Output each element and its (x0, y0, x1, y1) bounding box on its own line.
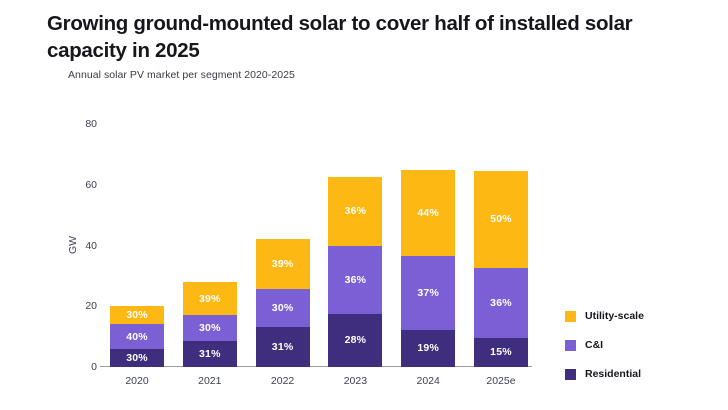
bar-group[interactable]: 39%30%31%2021 (183, 124, 237, 367)
y-axis-tick-label: 60 (85, 179, 97, 191)
x-axis-tick-label: 2021 (198, 375, 221, 387)
x-axis-tick-label: 2022 (271, 375, 294, 387)
segment-share-label: 39% (272, 258, 294, 270)
bar-segment-c-i[interactable]: 37% (401, 256, 455, 329)
segment-share-label: 31% (199, 348, 221, 360)
segment-share-label: 31% (272, 341, 294, 353)
segment-share-label: 36% (490, 297, 512, 309)
legend-swatch-icon (565, 340, 576, 351)
y-axis-tick-label: 40 (85, 240, 97, 252)
segment-share-label: 37% (417, 287, 439, 299)
bar-group[interactable]: 36%36%28%2023 (328, 124, 382, 367)
x-axis-tick-label: 2023 (344, 375, 367, 387)
stacked-bar[interactable]: 44%37%19% (401, 170, 455, 367)
stacked-bar[interactable]: 30%40%30% (110, 306, 164, 367)
segment-share-label: 40% (126, 331, 148, 343)
bar-segment-utility-scale[interactable]: 50% (474, 171, 528, 268)
bar-segment-utility-scale[interactable]: 30% (110, 306, 164, 324)
legend-item-ci[interactable]: C&I (565, 339, 644, 351)
y-axis-tick-label: 80 (85, 118, 97, 130)
legend-item-label: Residential (585, 368, 641, 380)
x-axis-tick-label: 2024 (417, 375, 440, 387)
stacked-bar[interactable]: 39%30%31% (183, 282, 237, 367)
stacked-bar[interactable]: 50%36%15% (474, 171, 528, 367)
bar-segment-utility-scale[interactable]: 39% (183, 282, 237, 315)
bar-segment-utility-scale[interactable]: 39% (256, 239, 310, 289)
bar-group[interactable]: 39%30%31%2022 (256, 124, 310, 367)
bar-segment-residential[interactable]: 15% (474, 338, 528, 367)
stacked-bar[interactable]: 36%36%28% (328, 177, 382, 367)
legend-swatch-icon (565, 369, 576, 380)
legend-item-label: Utility-scale (585, 310, 644, 322)
segment-share-label: 50% (490, 213, 512, 225)
segment-share-label: 30% (126, 309, 148, 321)
bar-segment-residential[interactable]: 31% (183, 341, 237, 367)
x-axis-tick-label: 2025e (486, 375, 515, 387)
bar-series-container: 30%40%30%202039%30%31%202139%30%31%20223… (110, 124, 528, 367)
chart-legend: Utility-scaleC&IResidential (565, 310, 644, 380)
bar-segment-c-i[interactable]: 36% (474, 268, 528, 338)
segment-share-label: 30% (126, 352, 148, 364)
segment-share-label: 15% (490, 346, 512, 358)
bar-group[interactable]: 44%37%19%2024 (401, 124, 455, 367)
legend-item-label: C&I (585, 339, 603, 351)
bar-segment-c-i[interactable]: 36% (328, 246, 382, 314)
legend-swatch-icon (565, 311, 576, 322)
segment-share-label: 30% (272, 302, 294, 314)
x-axis-tick-label: 2020 (125, 375, 148, 387)
bar-segment-c-i[interactable]: 30% (256, 289, 310, 327)
legend-item-utility[interactable]: Utility-scale (565, 310, 644, 322)
y-axis-title: GW (67, 236, 79, 254)
bar-group[interactable]: 30%40%30%2020 (110, 124, 164, 367)
y-axis-tick-label: 20 (85, 300, 97, 312)
chart-subtitle: Annual solar PV market per segment 2020-… (68, 69, 295, 81)
bar-segment-residential[interactable]: 28% (328, 314, 382, 367)
segment-share-label: 19% (417, 342, 439, 354)
segment-share-label: 44% (417, 207, 439, 219)
segment-share-label: 28% (345, 334, 367, 346)
bar-segment-residential[interactable]: 31% (256, 327, 310, 367)
segment-share-label: 36% (345, 205, 367, 217)
bar-segment-utility-scale[interactable]: 44% (401, 170, 455, 257)
plot-area: 020406080 30%40%30%202039%30%31%202139%3… (110, 124, 528, 367)
segment-share-label: 36% (345, 274, 367, 286)
segment-share-label: 30% (199, 322, 221, 334)
legend-item-residential[interactable]: Residential (565, 368, 644, 380)
bar-segment-utility-scale[interactable]: 36% (328, 177, 382, 245)
segment-share-label: 39% (199, 293, 221, 305)
chart-page: Growing ground-mounted solar to cover ha… (0, 0, 728, 410)
y-axis-tick-label: 0 (91, 361, 97, 373)
page-title: Growing ground-mounted solar to cover ha… (47, 10, 687, 64)
bar-segment-c-i[interactable]: 30% (183, 315, 237, 341)
bar-segment-residential[interactable]: 19% (401, 330, 455, 368)
bar-group[interactable]: 50%36%15%2025e (474, 124, 528, 367)
bar-segment-residential[interactable]: 30% (110, 349, 164, 367)
bar-segment-c-i[interactable]: 40% (110, 324, 164, 348)
stacked-bar[interactable]: 39%30%31% (256, 239, 310, 367)
